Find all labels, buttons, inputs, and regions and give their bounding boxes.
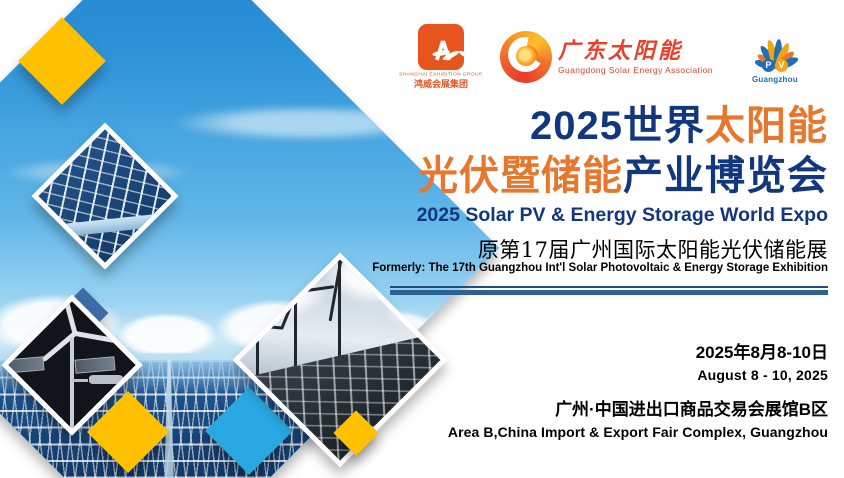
- wing-mark-icon: [418, 24, 464, 70]
- title-line-1-part-1: 2025世界: [530, 104, 705, 148]
- subtitle-english: Formerly: The 17th Guangzhou Int'l Solar…: [372, 262, 828, 274]
- hongwei-chinese-label: 鸿威会展集团: [414, 77, 468, 90]
- subtitle-chinese: 原第17届广州国际太阳能光伏储能展: [478, 234, 828, 264]
- title-line-2-part-1: 光伏暨储能: [418, 154, 623, 198]
- event-date-chinese: 2025年8月8-10日: [696, 338, 828, 363]
- pv-p-badge: P: [762, 59, 775, 72]
- sun-spiral-icon: [500, 31, 552, 83]
- guangdong-solar-energy-association-logo: 广东太阳能 Guangdong Solar Energy Association: [500, 31, 713, 83]
- gdsea-chinese-label: 广东太阳能: [558, 40, 713, 62]
- gdsea-english-label: Guangdong Solar Energy Association: [558, 65, 713, 75]
- pv-guangzhou-logo: PV Guangzhou: [737, 28, 809, 86]
- poster-text-column: SHANGHAI EXHIBITION GROUP 鸿威会展集团 广东太阳能 G…: [388, 0, 844, 478]
- event-venue-english: Area B,China Import & Export Fair Comple…: [448, 424, 828, 440]
- hongwei-exhibition-group-logo: SHANGHAI EXHIBITION GROUP 鸿威会展集团: [408, 24, 474, 90]
- title-line-2-part-2: 产业博览会: [623, 154, 828, 198]
- event-date-english: August 8 - 10, 2025: [697, 367, 828, 383]
- title-line-1-part-2: 太阳能: [705, 104, 828, 148]
- expo-poster: SHANGHAI EXHIBITION GROUP 鸿威会展集团 广东太阳能 G…: [0, 0, 844, 478]
- title-english: 2025 Solar PV & Energy Storage World Exp…: [417, 204, 828, 227]
- event-venue-chinese: 广州·中国进出口商品交易会展馆B区: [555, 395, 828, 420]
- pv-v-badge: V: [775, 59, 788, 72]
- divider-rule: [390, 286, 828, 295]
- title-line-2: 光伏暨储能产业博览会: [418, 156, 828, 196]
- logo-row: SHANGHAI EXHIBITION GROUP 鸿威会展集团 广东太阳能 G…: [396, 22, 844, 92]
- title-line-1: 2025世界太阳能: [530, 106, 828, 146]
- pv-guangzhou-label: Guangzhou: [745, 75, 805, 84]
- hongwei-english-label: SHANGHAI EXHIBITION GROUP: [399, 71, 483, 77]
